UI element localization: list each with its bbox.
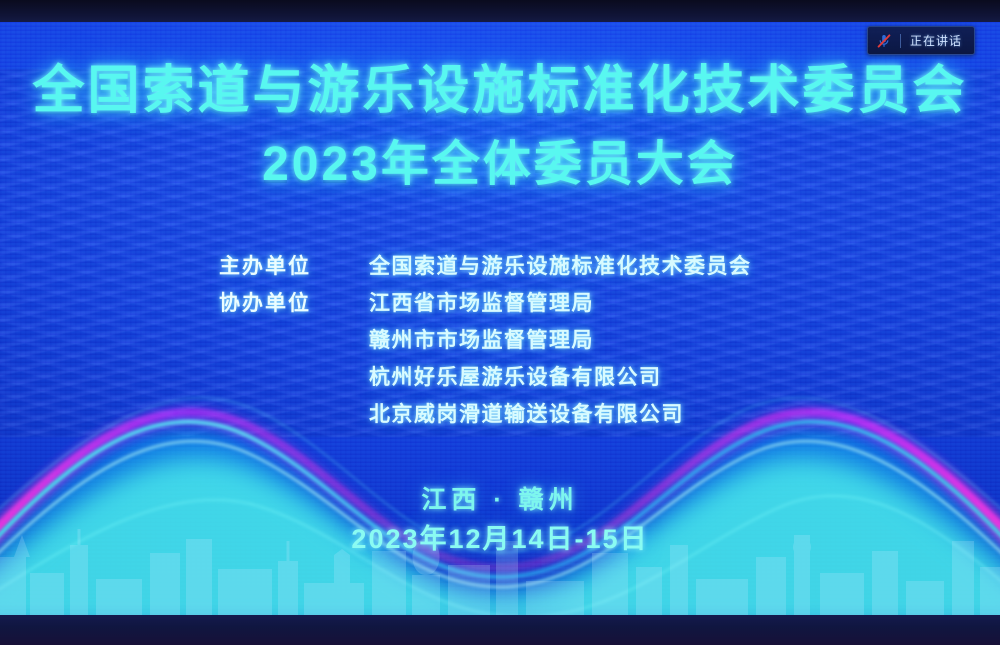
badge-divider [900, 34, 901, 48]
organizer-row: 赣州市市场监督管理局 [0, 324, 1000, 354]
organizer-list: 主办单位 全国索道与游乐设施标准化技术委员会 协办单位 江西省市场监督管理局 赣… [0, 250, 1000, 435]
stage-photo: 全国索道与游乐设施标准化技术委员会 2023年全体委员大会 主办单位 全国索道与… [0, 0, 1000, 645]
conference-subtitle: 2023年全体委员大会 [0, 140, 1000, 190]
organizer-row: 协办单位 江西省市场监督管理局 [0, 287, 1000, 317]
organizer-label: 主办单位 [211, 250, 369, 280]
organizer-row: 主办单位 全国索道与游乐设施标准化技术委员会 [0, 250, 1000, 280]
organizer-row: 北京威岗滑道输送设备有限公司 [0, 398, 1000, 428]
microphone-muted-icon [876, 33, 892, 49]
speaking-status-label: 正在讲话 [910, 32, 962, 49]
organizer-value: 赣州市市场监督管理局 [369, 324, 789, 354]
organizer-value: 北京威岗滑道输送设备有限公司 [369, 398, 789, 428]
led-screen: 全国索道与游乐设施标准化技术委员会 2023年全体委员大会 主办单位 全国索道与… [0, 22, 1000, 615]
organizer-label: 协办单位 [211, 287, 369, 317]
room-dark-band-top [0, 0, 1000, 22]
organizer-row: 杭州好乐屋游乐设备有限公司 [0, 361, 1000, 391]
venue-location: 江西 · 赣州 [0, 480, 1000, 516]
conference-title: 全国索道与游乐设施标准化技术委员会 [0, 64, 1000, 119]
organizer-value: 江西省市场监督管理局 [369, 287, 789, 317]
organizer-value: 全国索道与游乐设施标准化技术委员会 [369, 250, 789, 280]
event-dates: 2023年12月14日-15日 [0, 517, 1000, 556]
organizer-value: 杭州好乐屋游乐设备有限公司 [369, 361, 789, 391]
poster-content: 全国索道与游乐设施标准化技术委员会 2023年全体委员大会 主办单位 全国索道与… [0, 22, 1000, 615]
room-dark-band-bottom [0, 615, 1000, 645]
speaking-status-badge[interactable]: 正在讲话 [867, 26, 975, 55]
